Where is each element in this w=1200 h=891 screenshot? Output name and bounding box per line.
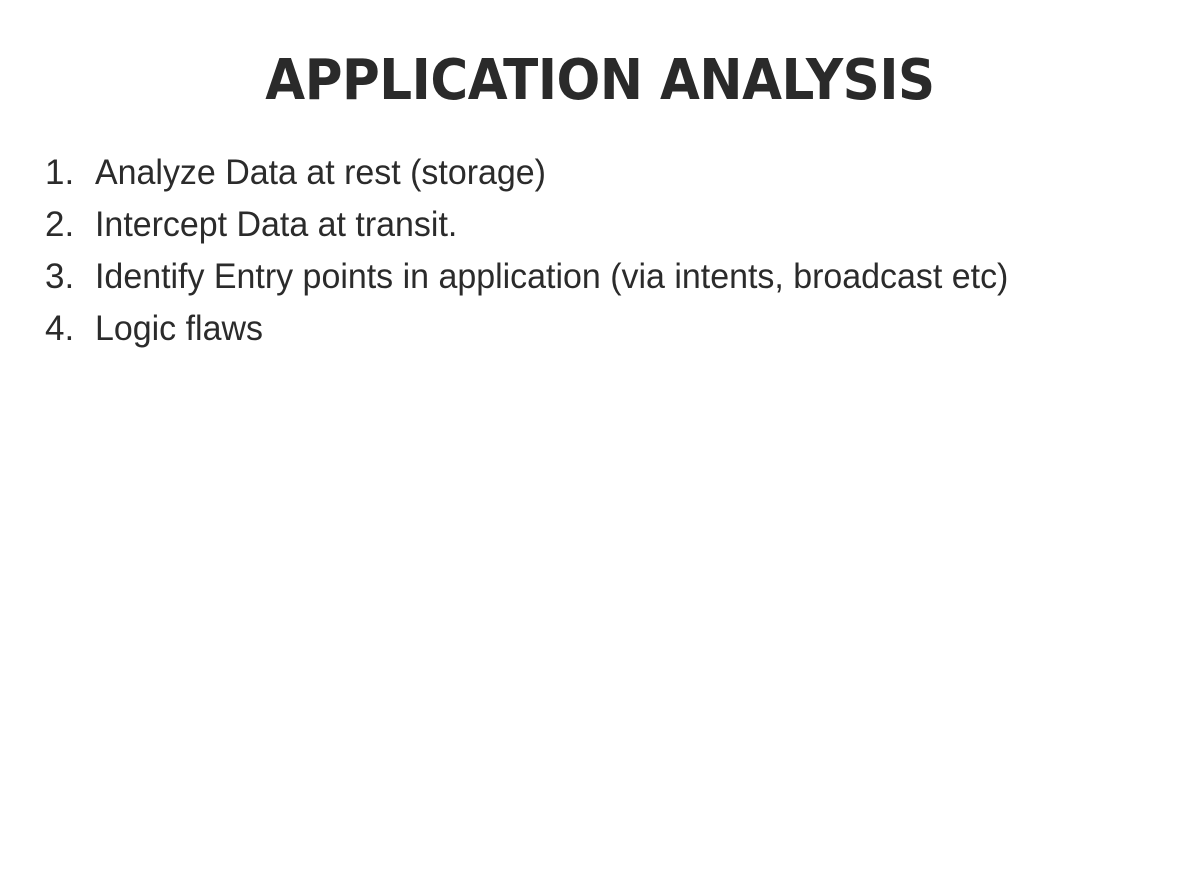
list-item: 4. Logic flaws [45, 303, 1185, 355]
list-item: 1. Analyze Data at rest (storage) [45, 147, 1185, 199]
list-item-label: Analyze Data at rest (storage) [95, 147, 546, 199]
list-item-marker: 4. [45, 303, 95, 355]
list-item-marker: 2. [45, 199, 95, 251]
list-item-marker: 3. [45, 251, 95, 303]
page-title: APPLICATION ANALYSIS [48, 48, 1152, 114]
list-item-label: Identify Entry points in application (vi… [95, 251, 1008, 303]
list-item-label: Logic flaws [95, 303, 263, 355]
list-item: 2. Intercept Data at transit. [45, 199, 1185, 251]
list-item-label: Intercept Data at transit. [95, 199, 457, 251]
slide-canvas: APPLICATION ANALYSIS 1. Analyze Data at … [0, 0, 1200, 891]
list-item-marker: 1. [45, 147, 95, 199]
numbered-list: 1. Analyze Data at rest (storage) 2. Int… [45, 147, 1185, 355]
list-item: 3. Identify Entry points in application … [45, 251, 1185, 303]
